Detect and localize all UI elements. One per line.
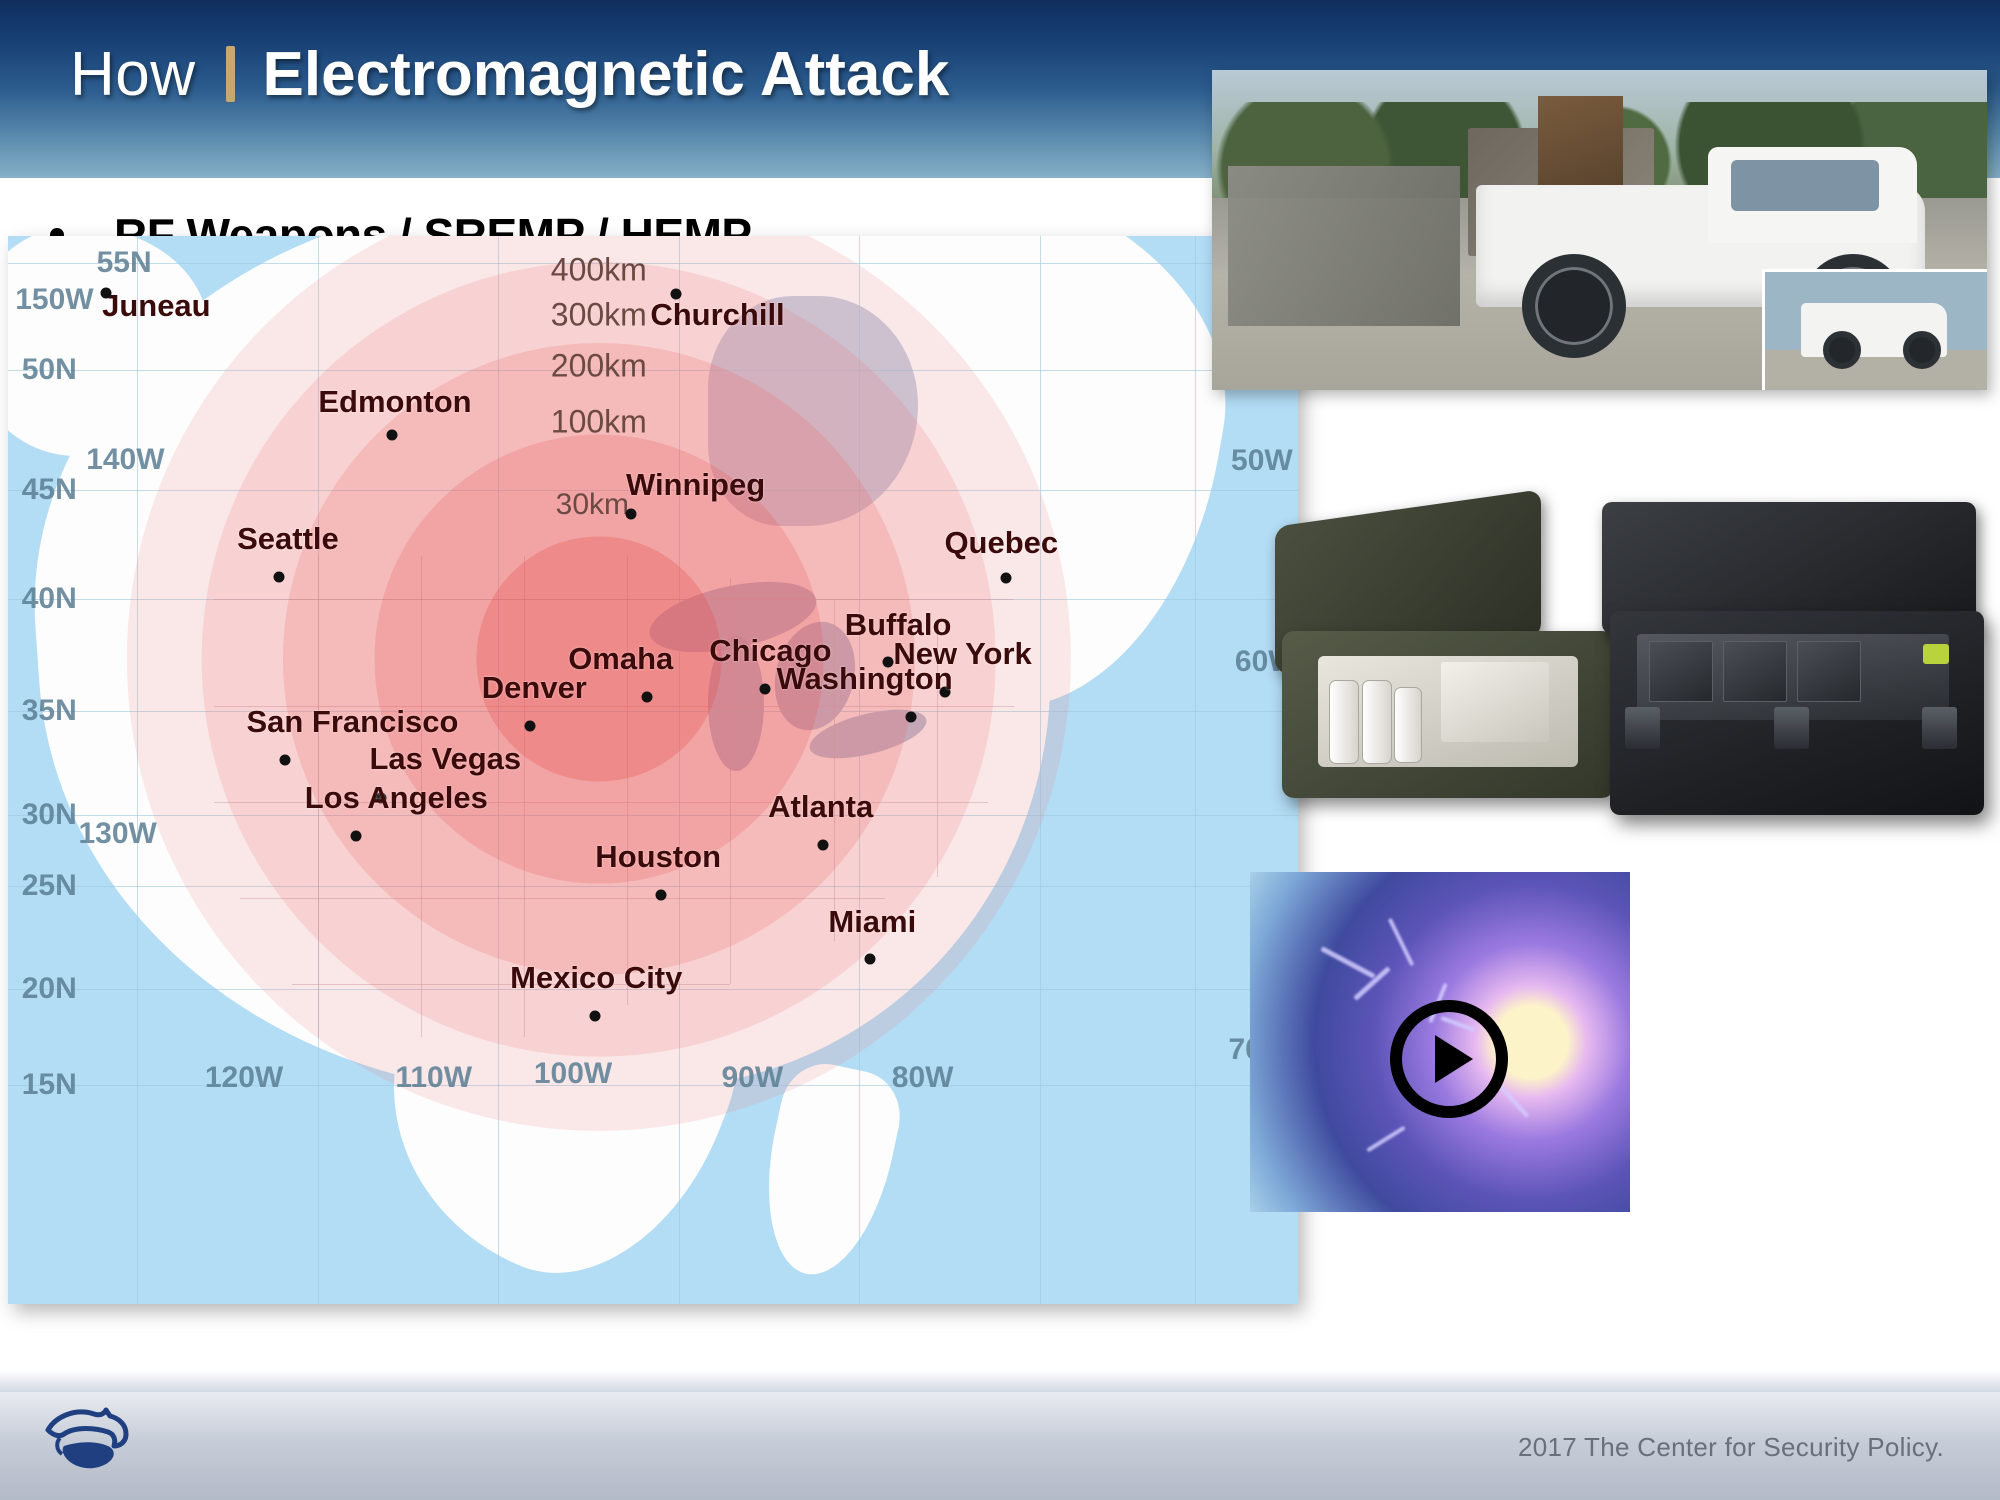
inset-wheel-rear [1823, 331, 1861, 369]
coordinate-label-50N: 50N [22, 353, 77, 387]
city-dot-seattle [273, 571, 284, 582]
coordinate-label-130W: 130W [78, 817, 156, 851]
footer-copyright: 2017 The Center for Security Policy. [1518, 1432, 1944, 1463]
city-dot-miami [864, 954, 875, 965]
photo-truck-window [1731, 160, 1878, 211]
case-electronics-module-olive [1441, 662, 1549, 742]
city-dot-washington [906, 711, 917, 722]
coordinate-label-140W: 140W [86, 443, 164, 477]
city-dot-chicago [760, 683, 771, 694]
longitude-line-0 [137, 236, 138, 1304]
city-label-las-vegas: Las Vegas [369, 741, 521, 777]
coordinate-label-110W: 110W [395, 1061, 472, 1095]
city-dot-atlanta [818, 839, 829, 850]
coordinate-label-35N: 35N [22, 694, 77, 728]
city-label-winnipeg: Winnipeg [626, 467, 765, 503]
radius-label-200km: 200km [551, 348, 647, 385]
city-dot-san-francisco [280, 755, 291, 766]
map-canvas: 400km300km200km100km30km 55N50N45N40N35N… [8, 236, 1298, 1304]
city-dot-los-angeles [351, 831, 362, 842]
city-label-san-francisco: San Francisco [246, 704, 458, 740]
play-triangle-icon [1435, 1035, 1473, 1083]
city-label-miami: Miami [828, 904, 916, 940]
video-play-button[interactable] [1390, 1000, 1508, 1118]
city-label-washington: Washington [776, 661, 952, 697]
lightning-bolt-6 [1366, 1126, 1405, 1153]
portable-rf-device-case-olive-photo[interactable] [1268, 508, 1628, 816]
photo-rf-equipment [1228, 166, 1461, 326]
coordinate-label-120W: 120W [205, 1061, 283, 1095]
slide-title: How Electromagnetic Attack [70, 28, 949, 120]
slide-section-label: How [70, 39, 196, 110]
case-module-1 [1649, 641, 1713, 702]
case-indicator-light [1923, 644, 1949, 664]
coordinate-label-20N: 20N [22, 972, 77, 1006]
portable-rf-device-case-black-photo[interactable] [1602, 502, 1992, 832]
emp-coverage-map[interactable]: 400km300km200km100km30km 55N50N45N40N35N… [8, 236, 1298, 1304]
case-capacitor-3 [1394, 687, 1422, 763]
coordinate-label-30N: 30N [22, 798, 77, 832]
city-label-atlanta: Atlanta [768, 789, 873, 825]
lightning-bolt-3 [1388, 918, 1414, 966]
city-label-denver: Denver [482, 670, 587, 706]
radius-label-100km: 100km [551, 403, 647, 440]
case-capacitor-1 [1329, 680, 1359, 764]
case-capacitor-2 [1362, 680, 1392, 764]
radius-label-400km: 400km [551, 252, 647, 289]
coordinate-label-25N: 25N [22, 869, 77, 903]
city-label-edmonton: Edmonton [318, 384, 471, 420]
slide-title-text: Electromagnetic Attack [263, 39, 950, 110]
footer-sheen [0, 1370, 2000, 1392]
case-latch-center[interactable] [1774, 707, 1809, 750]
city-label-los-angeles: Los Angeles [305, 780, 488, 816]
coordinate-label-80W: 80W [892, 1061, 954, 1095]
city-dot-quebec [1001, 572, 1012, 583]
city-dot-edmonton [387, 429, 398, 440]
case-latch-right[interactable] [1922, 707, 1957, 750]
coordinate-label-15N: 15N [22, 1068, 77, 1102]
inset-wheel-front [1903, 331, 1941, 369]
coordinate-label-40N: 40N [22, 582, 77, 616]
title-divider [226, 46, 235, 102]
city-dot-omaha [641, 692, 652, 703]
coordinate-label-45N: 45N [22, 473, 77, 507]
city-label-houston: Houston [595, 839, 721, 875]
coordinate-label-100W: 100W [534, 1057, 612, 1091]
city-dot-denver [525, 721, 536, 732]
city-dot-juneau [101, 287, 112, 298]
photo-truck-wheel-rear [1522, 254, 1626, 358]
rf-weapon-truck-photo[interactable] [1212, 70, 1987, 390]
city-label-mexico-city: Mexico City [510, 960, 682, 996]
coordinate-label-150W: 150W [15, 283, 93, 317]
case-module-3 [1797, 641, 1861, 702]
lightning-bolt-1 [1321, 947, 1376, 980]
city-dot-churchill [671, 288, 682, 299]
coordinate-label-55N: 55N [97, 246, 152, 280]
eagle-logo [30, 1394, 160, 1480]
city-label-juneau: Juneau [102, 288, 211, 324]
longitude-line-6 [1195, 236, 1196, 1304]
city-dot-mexico-city [589, 1010, 600, 1021]
case-latch-left[interactable] [1625, 707, 1660, 750]
city-label-churchill: Churchill [650, 297, 784, 333]
coordinate-label-50W: 50W [1231, 444, 1293, 478]
case-module-2 [1723, 641, 1787, 702]
city-label-seattle: Seattle [237, 521, 339, 557]
city-dot-houston [655, 889, 666, 900]
radius-label-30km: 30km [556, 488, 629, 522]
coordinate-label-90W: 90W [721, 1061, 783, 1095]
city-label-quebec: Quebec [944, 525, 1058, 561]
city-dot-winnipeg [626, 508, 637, 519]
radius-label-300km: 300km [551, 297, 647, 334]
rf-weapon-truck-inset-photo[interactable] [1762, 269, 1987, 390]
